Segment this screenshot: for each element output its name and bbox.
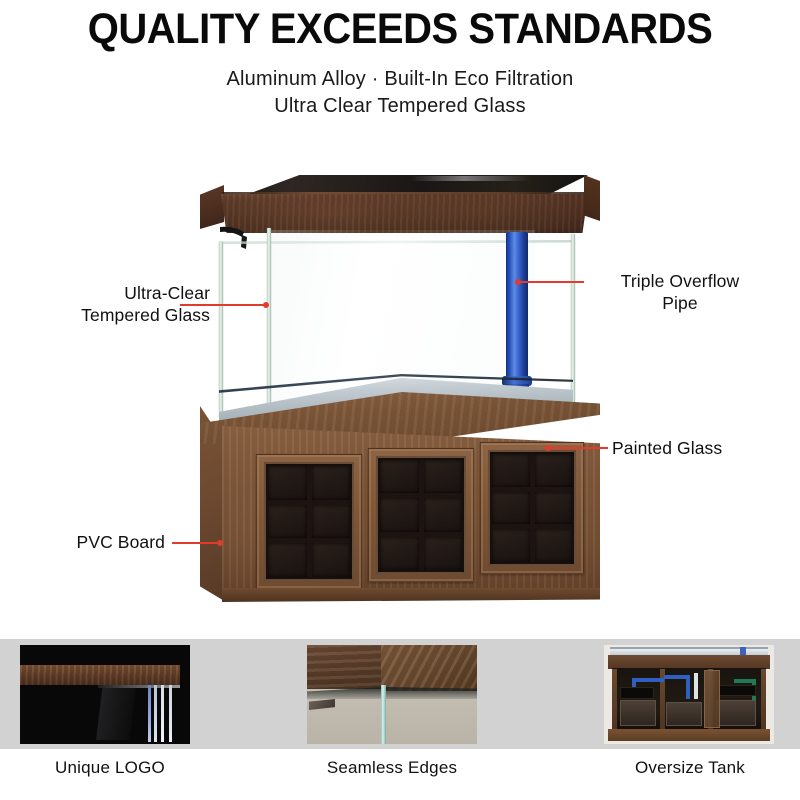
leader-dot-pvc-board bbox=[217, 540, 223, 546]
thumb3-sump-box bbox=[620, 700, 656, 726]
thumb3-sump-box bbox=[666, 702, 702, 726]
thumb3-blue-pipe bbox=[632, 678, 664, 682]
glass-pane bbox=[535, 454, 573, 487]
thumb3-equipment-block bbox=[716, 685, 756, 696]
thumbnail-unique-logo[interactable] bbox=[20, 645, 190, 744]
thumb1-wood-hood-band bbox=[20, 665, 180, 685]
thumbnail-caption-seamless-edges: Seamless Edges bbox=[262, 758, 522, 778]
thumb3-open-door bbox=[704, 670, 720, 728]
callout-triple-overflow-pipe: Triple Overflow Pipe bbox=[585, 270, 775, 315]
glass-edge-front-right bbox=[571, 234, 575, 408]
thumb3-blue-pipe bbox=[686, 675, 690, 699]
glass-pane bbox=[492, 529, 530, 562]
leader-line-painted-glass bbox=[548, 447, 608, 449]
door-2-painted-glass bbox=[376, 456, 466, 574]
subtitle-line-1: Aluminum Alloy · Built-In Eco Filtration bbox=[0, 66, 800, 93]
thumb1-glass-reflection bbox=[96, 688, 136, 740]
header: QUALITY EXCEEDS STANDARDS Aluminum Alloy… bbox=[0, 0, 800, 130]
leader-dot-ultra-clear-tempered-glass bbox=[263, 302, 269, 308]
cabinet-door-3[interactable] bbox=[480, 442, 584, 574]
feature-thumbnail-strip bbox=[0, 639, 800, 749]
thumb1-pipe-line bbox=[148, 685, 151, 742]
cabinet-stand bbox=[196, 392, 606, 607]
thumb2-wood-right bbox=[381, 645, 477, 691]
leader-dot-painted-glass bbox=[545, 445, 551, 451]
glass-tank bbox=[200, 228, 600, 418]
thumb3-equipment-block bbox=[620, 687, 654, 699]
glass-pane bbox=[380, 460, 419, 493]
cabinet-door-1[interactable] bbox=[256, 454, 362, 589]
subtitle-line-2: Ultra Clear Tempered Glass bbox=[0, 93, 800, 120]
door-1-pane-grid bbox=[268, 466, 350, 577]
glass-pane bbox=[312, 466, 351, 500]
cabinet-base-plinth bbox=[222, 588, 600, 602]
glass-pane bbox=[380, 498, 419, 531]
hood-right-side bbox=[584, 175, 600, 221]
thumb1-pipe-line bbox=[154, 685, 157, 742]
thumbnail-seamless-edges[interactable] bbox=[307, 645, 477, 744]
thumb3-cabinet-floor bbox=[608, 729, 770, 741]
subtitle-block: Aluminum Alloy · Built-In Eco Filtration… bbox=[0, 66, 800, 119]
thumb3-frame-post bbox=[761, 669, 766, 730]
glass-pane bbox=[312, 543, 351, 577]
glass-pane bbox=[380, 537, 419, 570]
thumb3-frame-post bbox=[612, 669, 617, 730]
cabinet-door-2[interactable] bbox=[368, 448, 474, 582]
glass-pane bbox=[535, 529, 573, 562]
glass-pane bbox=[492, 492, 530, 525]
glass-pane bbox=[268, 466, 307, 500]
glass-pane bbox=[312, 505, 351, 539]
leader-line-pvc-board bbox=[172, 542, 220, 544]
thumb3-cabinet-top bbox=[608, 655, 770, 669]
thumbnail-oversize-tank[interactable] bbox=[604, 645, 774, 744]
glass-pane bbox=[268, 543, 307, 577]
hood-top-highlight bbox=[410, 176, 530, 181]
product-illustration bbox=[0, 130, 800, 630]
glass-pane bbox=[535, 492, 573, 525]
leader-line-ultra-clear-tempered-glass bbox=[180, 304, 266, 306]
thumb2-wood-left bbox=[307, 645, 381, 689]
thumb3-sump-box bbox=[716, 700, 756, 726]
glass-pane bbox=[424, 460, 463, 493]
glass-pane bbox=[424, 498, 463, 531]
page-title: QUALITY EXCEEDS STANDARDS bbox=[28, 8, 772, 51]
thumbnail-caption-unique-logo: Unique LOGO bbox=[0, 758, 240, 778]
door-2-pane-grid bbox=[380, 460, 462, 570]
door-3-painted-glass bbox=[488, 450, 576, 566]
leader-dot-triple-overflow-pipe bbox=[515, 279, 521, 285]
glass-pane bbox=[492, 454, 530, 487]
callout-pvc-board: PVC Board bbox=[20, 531, 165, 553]
door-3-pane-grid bbox=[492, 454, 572, 562]
thumbnail-caption-oversize-tank: Oversize Tank bbox=[560, 758, 800, 778]
door-1-painted-glass bbox=[264, 462, 354, 581]
hood-left-side bbox=[200, 185, 224, 229]
overflow-pipe bbox=[506, 232, 528, 382]
thumb1-pipe-line bbox=[161, 685, 164, 742]
glass-pane bbox=[268, 505, 307, 539]
thumb1-glass-edge bbox=[98, 685, 180, 688]
thumb1-pipe-line bbox=[169, 685, 172, 742]
thumb2-seamless-glass-edge bbox=[381, 685, 386, 744]
thumb3-white-pipe bbox=[694, 673, 698, 699]
callout-painted-glass: Painted Glass bbox=[612, 437, 792, 459]
leader-line-triple-overflow-pipe bbox=[518, 281, 584, 283]
glass-pane bbox=[424, 537, 463, 570]
